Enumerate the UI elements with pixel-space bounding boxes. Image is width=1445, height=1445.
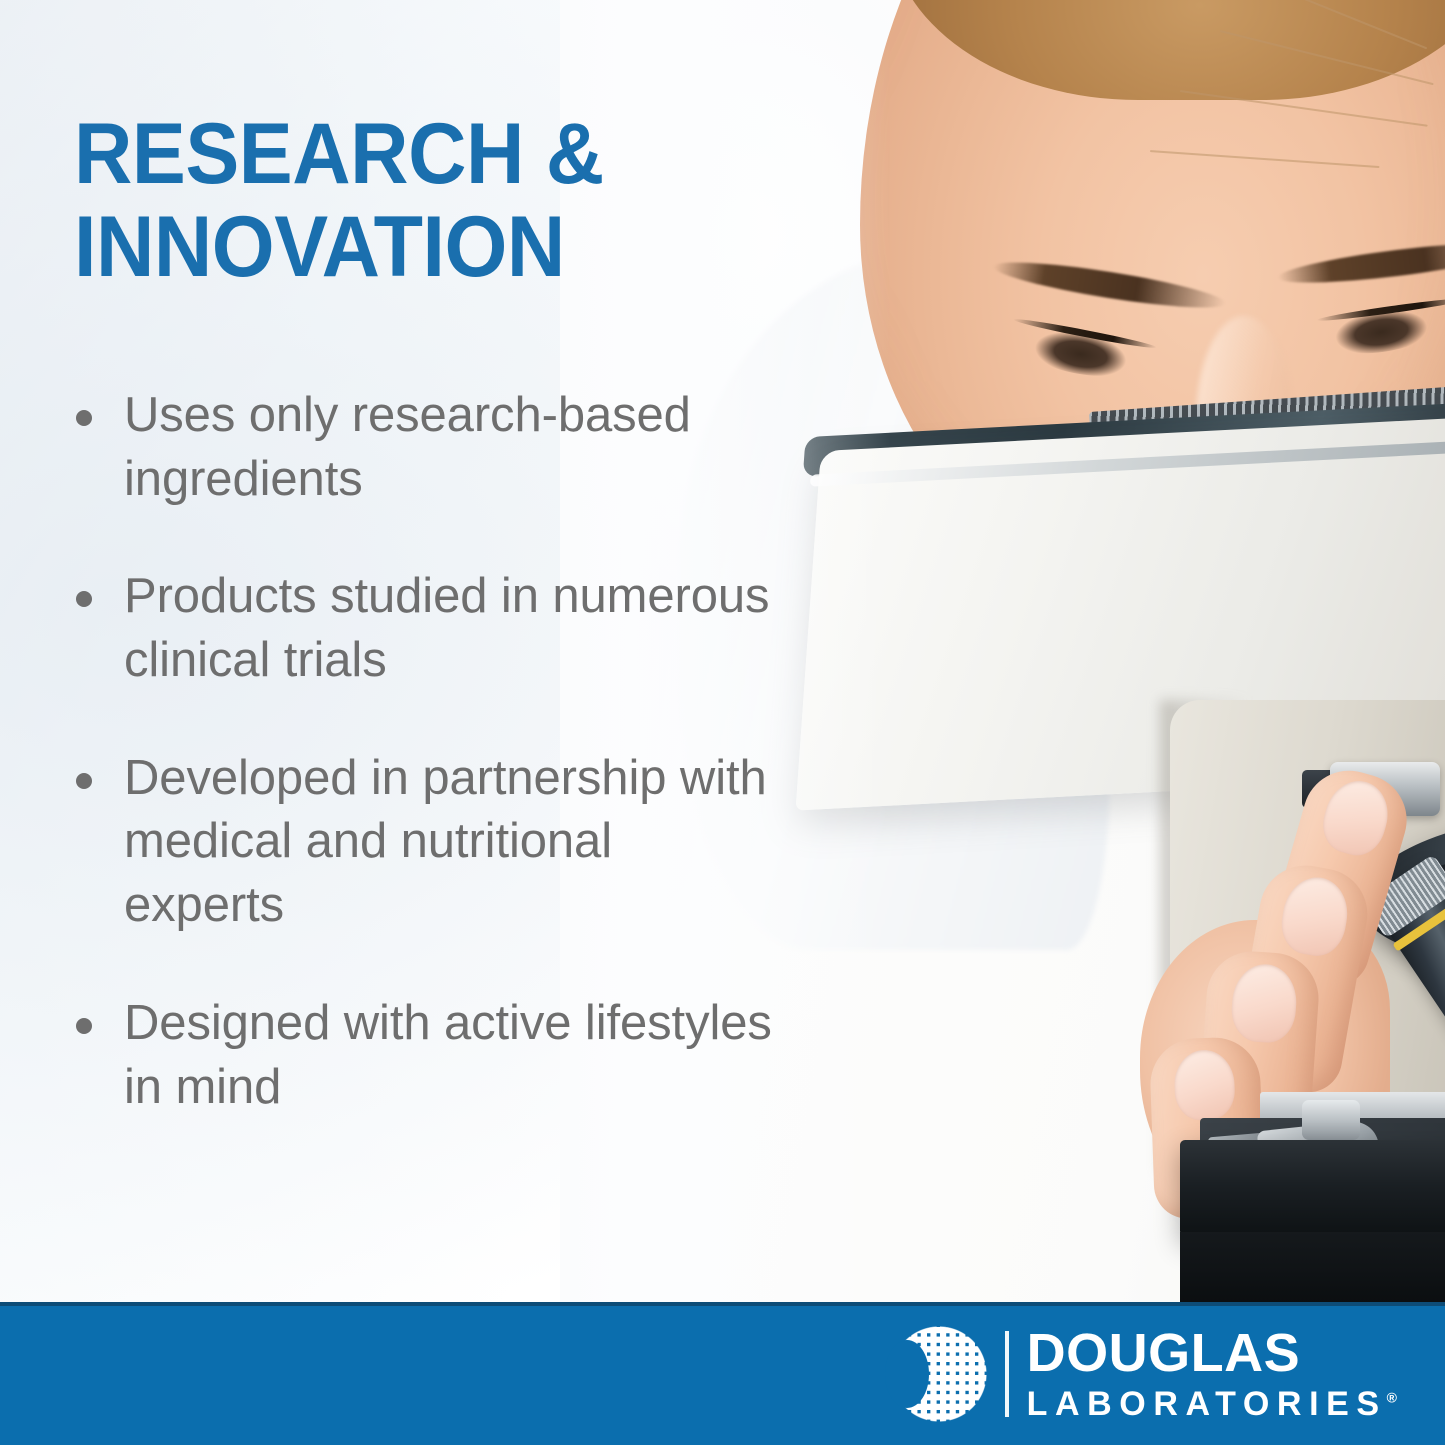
feature-bullet-list: Uses only research-based ingredients Pro… [62,384,822,1119]
logo-primary-text: DOUGLAS [1027,1327,1397,1380]
bullet-dot-icon [76,773,92,789]
wafer-notch [885,1340,929,1408]
logo-divider [1005,1331,1009,1417]
bullet-text: Products studied in numerous clinical tr… [124,565,784,692]
bullet-text: Uses only research-based ingredients [124,384,784,511]
fingernail [1230,962,1299,1044]
footer-top-edge [0,1302,1445,1306]
list-item: Products studied in numerous clinical tr… [62,565,822,692]
logo-secondary-line: LABORATORIES® [1027,1387,1397,1421]
logo-wordmark: DOUGLAS LABORATORIES® [1027,1327,1397,1421]
bullet-text: Designed with active lifestyles in mind [124,992,784,1119]
fingernail [1173,1049,1235,1121]
product-feature-poster: RESEARCH & INNOVATION Uses only research… [0,0,1445,1445]
douglas-laboratories-logo: DOUGLAS LABORATORIES® [891,1318,1397,1430]
mechanical-stage [1180,1140,1445,1236]
wafer-grid-icon [891,1326,987,1422]
list-item: Developed in partnership with medical an… [62,747,822,938]
page-title: RESEARCH & INNOVATION [74,108,788,294]
registered-trademark-icon: ® [1387,1390,1397,1406]
bullet-dot-icon [76,1018,92,1034]
fingernail [1316,774,1396,862]
slide-clip-knob [1302,1100,1360,1140]
text-panel: RESEARCH & INNOVATION Uses only research… [0,0,860,1302]
list-item: Uses only research-based ingredients [62,384,822,511]
bullet-text: Developed in partnership with medical an… [124,747,784,938]
brand-footer-bar: DOUGLAS LABORATORIES® [0,1302,1445,1445]
list-item: Designed with active lifestyles in mind [62,992,822,1119]
bullet-dot-icon [76,591,92,607]
scope-base [1180,1232,1445,1305]
bullet-dot-icon [76,410,92,426]
fingernail [1277,872,1354,960]
logo-secondary-text: LABORATORIES [1027,1385,1387,1423]
